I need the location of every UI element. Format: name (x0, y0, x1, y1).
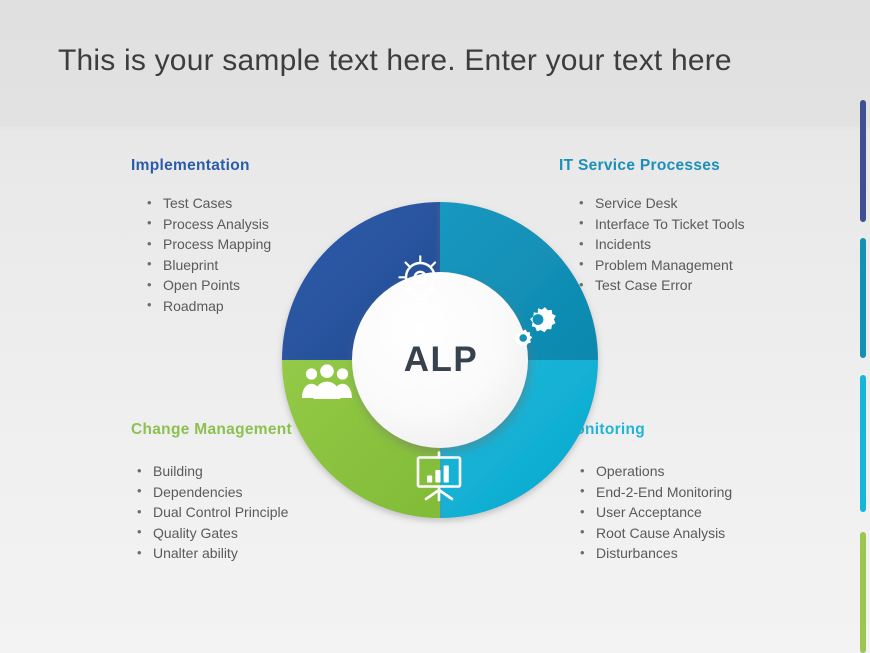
bullet-list-implementation: Test Cases Process Analysis Process Mapp… (145, 193, 271, 316)
list-item: Test Cases (145, 193, 271, 214)
list-item: Process Mapping (145, 234, 271, 255)
edge-bar-green (860, 532, 866, 653)
edge-bar-teal (860, 238, 866, 358)
list-item: Disturbances (578, 543, 732, 564)
quadrant-heading-it-service-processes: IT Service Processes (559, 157, 745, 175)
slide-canvas: This is your sample text here. Enter you… (0, 0, 870, 653)
list-item: Blueprint (145, 255, 271, 276)
list-item: Open Points (145, 275, 271, 296)
list-item: Process Analysis (145, 214, 271, 235)
quadrant-heading-implementation: Implementation (131, 157, 271, 175)
edge-bar-cyan (860, 375, 866, 512)
page-title: This is your sample text here. Enter you… (58, 44, 732, 78)
list-item: Unalter ability (135, 543, 292, 564)
pinwheel-diagram: ALP (268, 188, 612, 532)
center-circle (352, 272, 528, 448)
edge-bar-blue (860, 100, 866, 222)
list-item: Roadmap (145, 296, 271, 317)
quadrant-implementation: Implementation Test Cases Process Analys… (131, 157, 271, 316)
